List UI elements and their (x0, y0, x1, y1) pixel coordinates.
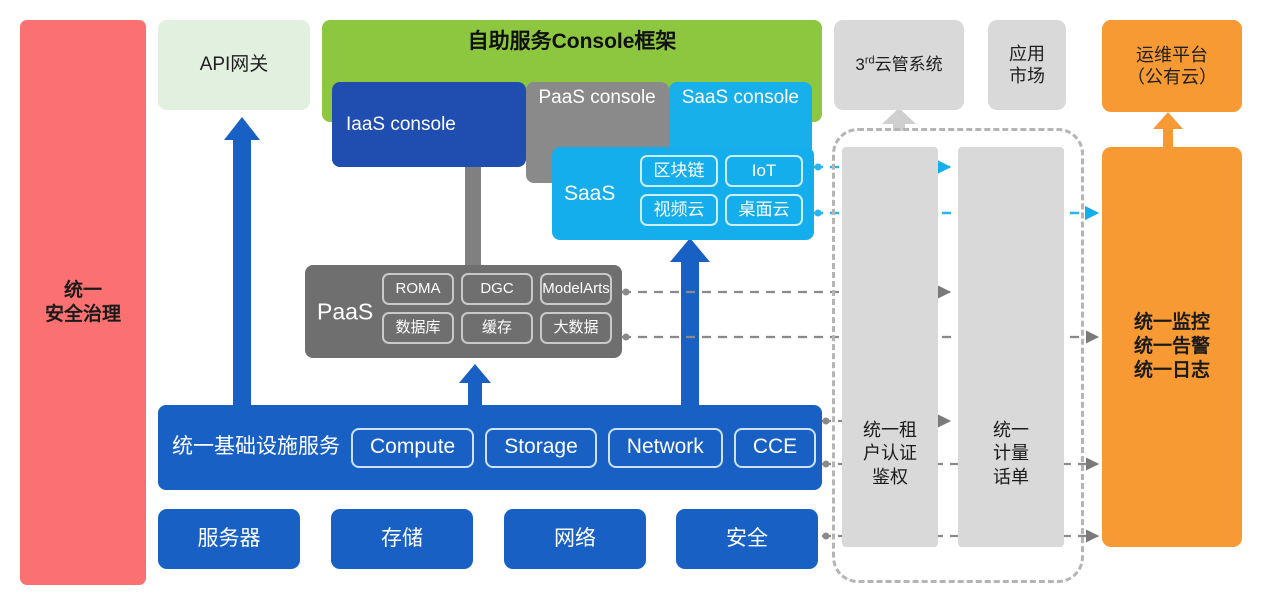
arrow-ops-main-to-ops-top (1153, 112, 1183, 147)
ops-platform-public-cloud-label: 运维平台 （公有云） (1127, 44, 1217, 89)
column-unified-tenant-auth[interactable]: 统一租户认证鉴权 (842, 147, 938, 547)
app-market-label: 应用 市场 (1009, 43, 1045, 88)
hardware-network-box[interactable]: 网络 (504, 509, 646, 569)
paas-service-grid: ROMA DGC ModelArts 数据库 缓存 大数据 (382, 273, 614, 344)
arrow-iaas-to-paas (459, 364, 491, 405)
paas-service-roma[interactable]: ROMA (382, 273, 454, 305)
paas-service-cache[interactable]: 缓存 (461, 312, 533, 344)
api-gateway-box[interactable]: API网关 (158, 20, 310, 110)
tpc-sup: rd (865, 55, 875, 67)
column-unified-metering-billing[interactable]: 统一计量话单 (958, 147, 1064, 547)
tpc-prefix: 3 (855, 55, 864, 74)
console-framework-title: 自助服务Console框架 (322, 29, 822, 55)
hardware-security-label: 安全 (726, 526, 768, 552)
hardware-storage-label: 存储 (381, 526, 423, 552)
hardware-storage-box[interactable]: 存储 (331, 509, 473, 569)
arrow-iaas-to-api-gateway (224, 117, 260, 405)
hardware-security-box[interactable]: 安全 (676, 509, 818, 569)
paas-service-dgc[interactable]: DGC (461, 273, 533, 305)
column-unified-metering-billing-label: 统一计量话单 (958, 419, 1064, 489)
unified-infrastructure-service-layer[interactable]: 统一基础设施服务 Compute Storage Network CCE (158, 405, 822, 490)
diagram-canvas: 统一租户认证鉴权 统一计量话单 统一安全治理 API网关 自助服务Console… (0, 0, 1265, 605)
iaas-service-network[interactable]: Network (608, 428, 723, 468)
app-market-box[interactable]: 应用 市场 (988, 20, 1066, 110)
hardware-network-label: 网络 (554, 526, 596, 552)
hardware-server-label: 服务器 (198, 526, 261, 552)
paas-layer[interactable]: PaaS ROMA DGC ModelArts 数据库 缓存 大数据 (305, 265, 622, 358)
saas-layer-label: SaaS (564, 180, 615, 206)
paas-service-modelarts[interactable]: ModelArts (540, 273, 612, 305)
ops-main-line1: 统一监控 (1134, 312, 1210, 333)
ops-main-line2: 统一告警 (1134, 336, 1210, 357)
iaas-service-storage[interactable]: Storage (485, 428, 597, 468)
saas-service-blockchain[interactable]: 区块链 (640, 155, 718, 187)
third-party-cloud-management-label: 3rd云管系统 (855, 54, 942, 75)
unified-infrastructure-service-label: 统一基础设施服务 (172, 434, 340, 460)
self-service-console-framework[interactable]: 自助服务Console框架 IaaS console PaaS console … (322, 20, 822, 122)
paas-service-database[interactable]: 数据库 (382, 312, 454, 344)
saas-service-grid: 区块链 IoT 视频云 桌面云 (640, 155, 808, 226)
saas-service-desktop-cloud[interactable]: 桌面云 (725, 194, 803, 226)
app-market-line2: 市场 (1009, 66, 1045, 86)
third-party-cloud-management-box[interactable]: 3rd云管系统 (834, 20, 964, 110)
unified-security-governance-label: 统一安全治理 (45, 279, 121, 327)
ops-top-line1: 运维平台 (1136, 45, 1208, 65)
ops-top-line2: （公有云） (1127, 67, 1217, 87)
ops-platform-public-cloud-box[interactable]: 运维平台 （公有云） (1102, 20, 1242, 112)
saas-service-video-cloud[interactable]: 视频云 (640, 194, 718, 226)
app-market-line1: 应用 (1009, 44, 1045, 64)
iaas-console-chip[interactable]: IaaS console (332, 82, 526, 167)
paas-layer-label: PaaS (317, 297, 373, 326)
unified-monitoring-alarm-log-panel[interactable]: 统一监控 统一告警 统一日志 (1102, 147, 1242, 547)
api-gateway-label: API网关 (200, 53, 269, 77)
iaas-service-compute[interactable]: Compute (351, 428, 474, 468)
column-unified-tenant-auth-label: 统一租户认证鉴权 (842, 419, 938, 489)
unified-security-governance-bar[interactable]: 统一安全治理 (20, 20, 146, 585)
saas-layer[interactable]: SaaS 区块链 IoT 视频云 桌面云 (552, 147, 814, 240)
saas-service-iot[interactable]: IoT (725, 155, 803, 187)
ops-main-line3: 统一日志 (1134, 360, 1210, 381)
iaas-service-cce[interactable]: CCE (734, 428, 816, 468)
hardware-server-box[interactable]: 服务器 (158, 509, 300, 569)
unified-monitoring-alarm-log-label: 统一监控 统一告警 统一日志 (1134, 311, 1210, 382)
tpc-suffix: 云管系统 (875, 55, 943, 74)
arrow-iaas-to-saas (670, 238, 710, 405)
paas-service-bigdata[interactable]: 大数据 (540, 312, 612, 344)
